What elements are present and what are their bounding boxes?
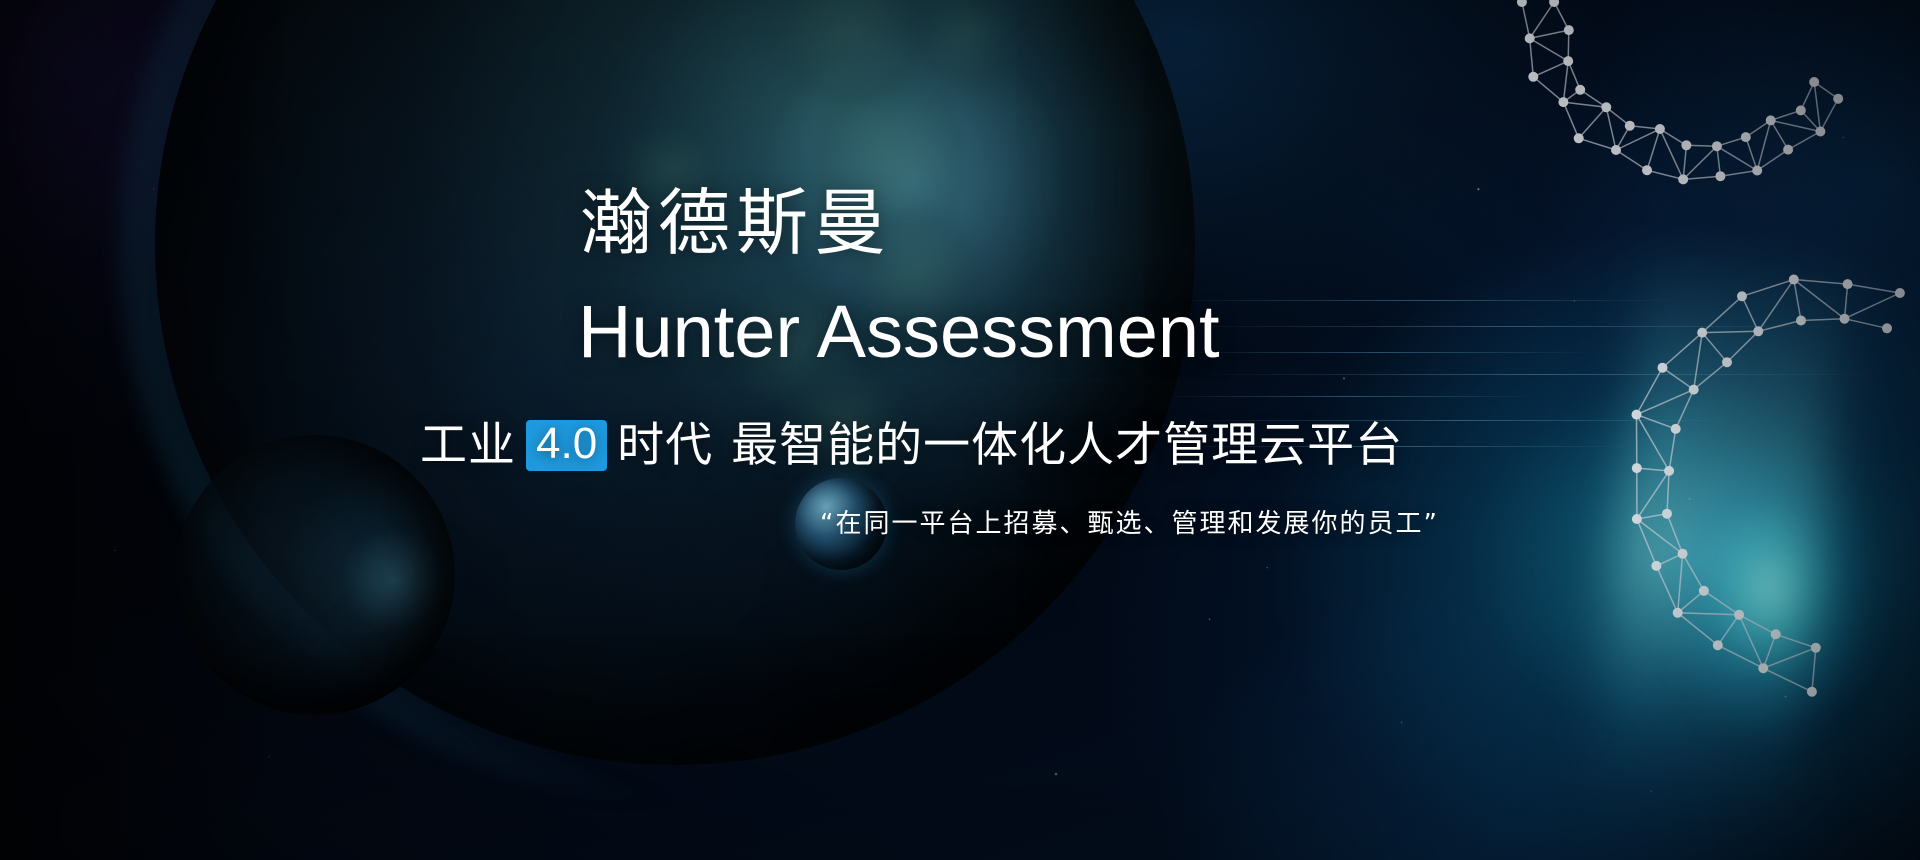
tagline-rest: 最智能的一体化人才管理云平台 <box>731 422 1403 469</box>
tagline-after-badge: 时代 <box>617 422 713 469</box>
version-badge: 4.0 <box>526 420 607 471</box>
hero-content: 瀚德斯曼 Hunter Assessment 工业 4.0 时代 最智能的一体化… <box>0 0 1920 860</box>
hero-banner: 瀚德斯曼 Hunter Assessment 工业 4.0 时代 最智能的一体化… <box>0 0 1920 860</box>
tagline-before-badge: 工业 <box>420 422 516 469</box>
tagline-quote: “在同一平台上招募、甄选、管理和发展你的员工” <box>820 503 1439 540</box>
brand-title-chinese: 瀚德斯曼 <box>580 185 892 263</box>
brand-title-english: Hunter Assessment <box>578 293 1220 371</box>
tagline: 工业 4.0 时代 最智能的一体化人才管理云平台 <box>420 420 1403 471</box>
